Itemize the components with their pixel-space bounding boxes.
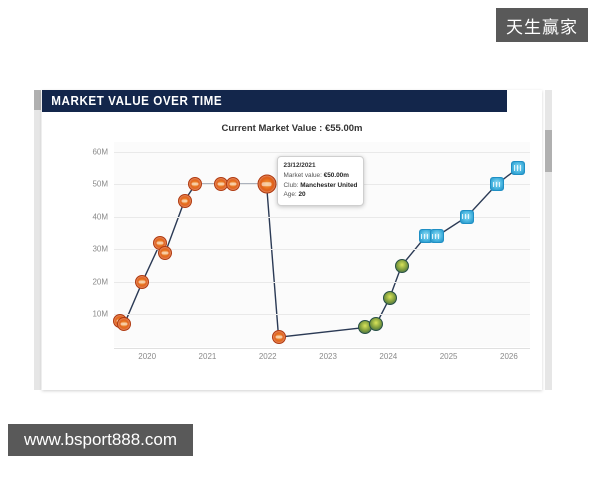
market-value-card: MARKET VALUE OVER TIME Current Market Va… [42, 90, 542, 390]
x-axis-tick-label: 2020 [138, 352, 156, 361]
x-axis-tick-label: 2021 [199, 352, 217, 361]
y-axis-tick-label: 40M [92, 212, 108, 221]
tooltip-market-value-label: Market value: [284, 172, 322, 179]
y-axis-tick-label: 10M [92, 310, 108, 319]
card-header-title: MARKET VALUE OVER TIME [51, 94, 222, 108]
data-point-marker-manchester-united[interactable] [117, 317, 131, 331]
x-axis-line [114, 348, 530, 349]
tooltip-market-value-amount: €50.00m [324, 172, 349, 179]
tooltip-date: 23/12/2021 [284, 161, 358, 171]
chart-plot-area: 60M50M40M30M20M10M 202020212022202320242… [42, 142, 542, 382]
scrollbar-right[interactable] [545, 90, 552, 390]
data-point-marker-sporting-cp[interactable] [383, 291, 397, 305]
gridline [114, 249, 530, 250]
tooltip-age-label: Age: [284, 191, 297, 198]
tooltip-market-value: Market value: €50.00m [284, 171, 358, 181]
scrollbar-left-thumb[interactable] [34, 90, 41, 110]
tooltip-club: Club: Manchester United [284, 181, 358, 191]
data-point-marker-manchester-united[interactable] [257, 175, 276, 194]
data-point-marker-sporting-cp[interactable] [395, 259, 409, 273]
data-point-tooltip: 23/12/2021 Market value: €50.00m Club: M… [277, 156, 365, 205]
chart-title: Current Market Value : €55.00m [42, 123, 542, 134]
x-axis-tick-label: 2025 [440, 352, 458, 361]
watermark-top-right: 天生赢家 [496, 8, 588, 42]
data-point-marker-manchester-city[interactable] [511, 161, 525, 175]
data-point-marker-manchester-united[interactable] [178, 194, 192, 208]
data-point-marker-manchester-united[interactable] [272, 330, 286, 344]
data-point-marker-manchester-united[interactable] [188, 177, 202, 191]
scrollbar-left[interactable] [34, 90, 41, 390]
tooltip-club-label: Club: [284, 182, 299, 189]
data-point-marker-manchester-city[interactable] [430, 229, 444, 243]
card-header: MARKET VALUE OVER TIME [42, 90, 507, 112]
y-axis-tick-label: 60M [92, 147, 108, 156]
data-point-marker-manchester-city[interactable] [460, 210, 474, 224]
x-axis-tick-label: 2024 [379, 352, 397, 361]
y-axis-tick-label: 50M [92, 180, 108, 189]
data-point-marker-sporting-cp[interactable] [369, 317, 383, 331]
y-axis-tick-label: 20M [92, 277, 108, 286]
x-axis-tick-label: 2022 [259, 352, 277, 361]
tooltip-age-value: 20 [298, 191, 305, 198]
scrollbar-right-thumb[interactable] [545, 130, 552, 172]
gridline [114, 314, 530, 315]
watermark-bottom-left: www.bsport888.com [8, 424, 193, 456]
data-point-marker-manchester-united[interactable] [158, 246, 172, 260]
tooltip-age: Age: 20 [284, 190, 358, 200]
y-axis-tick-label: 30M [92, 245, 108, 254]
data-point-marker-manchester-united[interactable] [226, 177, 240, 191]
gridline [114, 152, 530, 153]
data-point-marker-manchester-city[interactable] [490, 177, 504, 191]
x-axis-tick-label: 2026 [500, 352, 518, 361]
tooltip-club-name: Manchester United [300, 182, 357, 189]
data-point-marker-manchester-united[interactable] [135, 275, 149, 289]
x-axis-tick-label: 2023 [319, 352, 337, 361]
gridline [114, 282, 530, 283]
